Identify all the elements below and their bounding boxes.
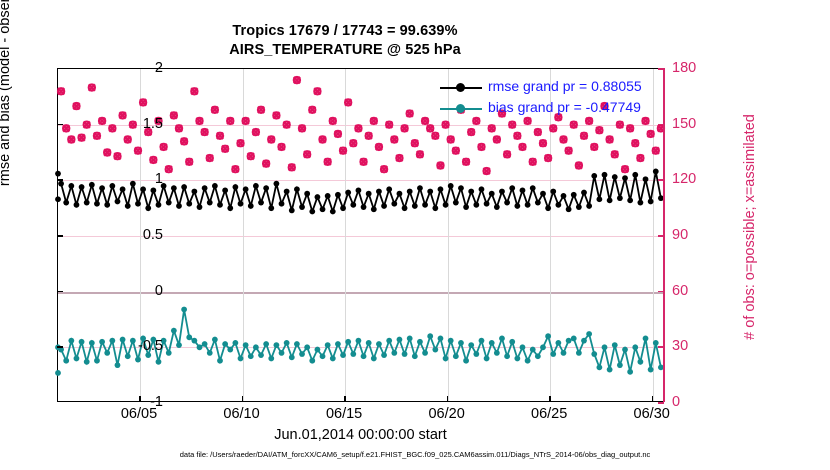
series-point <box>156 359 162 365</box>
series-point <box>284 189 290 195</box>
series-point <box>386 186 392 192</box>
series-point <box>356 187 362 193</box>
series-point <box>504 353 510 359</box>
series-point <box>468 189 474 195</box>
series-point <box>448 183 454 189</box>
x-tick-label: 06/30 <box>634 406 670 422</box>
series-point <box>391 350 397 356</box>
y-tick-mark <box>57 235 63 237</box>
x-tick-mark <box>344 396 346 402</box>
series-point <box>74 202 80 208</box>
series-point <box>361 353 367 359</box>
series-point <box>309 358 315 364</box>
series-point <box>104 350 110 356</box>
series-point <box>530 347 536 353</box>
legend-marker-rmse <box>456 83 465 92</box>
series-point <box>186 201 192 207</box>
series-point <box>166 200 172 206</box>
series-point <box>166 350 172 356</box>
series-point <box>304 191 310 197</box>
y-tick-mark-right <box>658 346 664 348</box>
series-point <box>550 351 556 357</box>
series-point <box>514 356 520 362</box>
series-point <box>566 338 572 344</box>
series-point <box>68 183 74 189</box>
series-point <box>576 350 582 356</box>
series-point <box>366 340 372 346</box>
series-point <box>514 203 520 209</box>
figure-canvas: Tropics 17679 / 17743 = 99.639% AIRS_TEM… <box>0 0 830 470</box>
series-point <box>325 342 331 348</box>
series-point <box>653 340 659 346</box>
series-point <box>335 192 341 198</box>
series-point <box>263 185 269 191</box>
series-point <box>248 203 254 209</box>
series-point <box>279 350 285 356</box>
series-point <box>350 202 356 208</box>
y-tick-label: -0.5 <box>138 338 163 354</box>
series-point <box>268 205 274 211</box>
y-tick-mark-right <box>658 124 664 126</box>
series-point <box>458 185 464 191</box>
series-point <box>417 185 423 191</box>
legend-item-bias: bias grand pr = -0.47749 <box>440 99 670 120</box>
x-tick-mark <box>139 396 141 402</box>
series-point <box>84 200 90 206</box>
series-point <box>448 338 454 344</box>
title-line-1: Tropics 17679 / 17743 = 99.639% <box>0 22 690 41</box>
series-point <box>202 341 208 347</box>
series-point <box>345 339 351 345</box>
series-point <box>120 337 126 343</box>
y-tick-mark-right <box>658 291 664 293</box>
series-point <box>530 185 536 191</box>
x-axis-label: Jun.01,2014 00:00:00 start <box>57 427 664 443</box>
series-point <box>120 186 126 192</box>
series-point <box>427 189 433 195</box>
x-tick-label: 06/10 <box>223 406 259 422</box>
y-tick-label: 1.5 <box>143 116 163 132</box>
series-point <box>289 207 295 213</box>
y-tick-label: 2 <box>155 60 163 76</box>
chart-title: Tropics 17679 / 17743 = 99.639% AIRS_TEM… <box>0 22 690 60</box>
y-tick-mark <box>57 291 63 293</box>
y-tick-mark-right <box>658 68 664 70</box>
series-point <box>89 340 95 346</box>
series-point <box>648 367 654 373</box>
series-point <box>217 358 223 364</box>
series-point <box>55 196 61 202</box>
series-point <box>309 209 315 215</box>
series-point <box>550 189 556 195</box>
series-point <box>596 364 602 370</box>
series-point <box>115 199 121 205</box>
series-point <box>386 338 392 344</box>
series-point <box>545 333 551 339</box>
series-point <box>484 201 490 207</box>
series-point <box>632 344 638 350</box>
series-point <box>345 190 351 196</box>
legend-label-bias: bias grand pr = -0.47749 <box>488 99 641 115</box>
series-point <box>197 344 203 350</box>
x-tick-mark <box>549 396 551 402</box>
series-point <box>197 204 203 210</box>
series-point <box>479 338 485 344</box>
series-point <box>596 196 602 202</box>
series-point <box>391 201 397 207</box>
series-point <box>294 341 300 347</box>
series-point <box>504 200 510 206</box>
series-point <box>268 356 274 362</box>
series-point <box>555 340 561 346</box>
series-point <box>643 336 649 342</box>
series-point <box>622 347 628 353</box>
series-point <box>55 370 61 376</box>
series-point <box>607 367 613 373</box>
series-point <box>591 173 597 179</box>
series-point <box>135 201 141 207</box>
series-point <box>191 189 197 195</box>
series-point <box>156 202 162 208</box>
series-point <box>376 341 382 347</box>
series-point <box>125 203 131 209</box>
series-point <box>140 186 146 192</box>
series-point <box>191 338 197 344</box>
x-tick-mark <box>447 396 449 402</box>
series-point <box>315 194 321 200</box>
series-point <box>494 204 500 210</box>
series-point <box>222 187 228 193</box>
series-point <box>238 201 244 207</box>
series-point <box>581 190 587 196</box>
series-point <box>617 362 623 368</box>
series-point <box>484 356 490 362</box>
series-point <box>612 174 618 180</box>
series-point <box>243 342 249 348</box>
series-point <box>171 328 177 334</box>
y-tick-label-right: 90 <box>672 227 688 243</box>
series-point <box>376 189 382 195</box>
series-point <box>299 204 305 210</box>
series-point <box>361 204 367 210</box>
series-point <box>320 353 326 359</box>
series-point <box>109 183 115 189</box>
series-point <box>350 351 356 357</box>
series-point <box>289 354 295 360</box>
y-tick-label: 0 <box>155 283 163 299</box>
series-point <box>253 183 259 189</box>
series-point <box>571 192 577 198</box>
y-tick-mark-right <box>658 402 664 404</box>
series-point <box>212 183 218 189</box>
x-tick-mark <box>652 396 654 402</box>
series-point <box>371 356 377 362</box>
y-tick-label-right: 180 <box>672 60 696 76</box>
legend-marker-bias <box>456 104 465 113</box>
y-tick-mark-right <box>658 179 664 181</box>
series-point <box>643 176 649 182</box>
series-point <box>520 344 526 350</box>
y-tick-mark <box>57 124 63 126</box>
series-point <box>463 204 469 210</box>
series-point <box>397 337 403 343</box>
series-point <box>232 340 238 346</box>
series-point <box>407 189 413 195</box>
series-point <box>315 347 321 353</box>
series-point <box>176 342 182 348</box>
series-point <box>171 185 177 191</box>
title-line-2: AIRS_TEMPERATURE @ 525 hPa <box>0 41 690 60</box>
series-point <box>591 351 597 357</box>
series-point <box>186 334 192 340</box>
series-point <box>632 172 638 178</box>
series-point <box>381 352 387 358</box>
series-point <box>509 339 515 345</box>
series-point <box>422 202 428 208</box>
series-point <box>115 362 121 368</box>
series-point <box>181 184 187 190</box>
y-tick-label-right: 60 <box>672 283 688 299</box>
series-point <box>473 202 479 208</box>
y-tick-label-right: 30 <box>672 338 688 354</box>
series-point <box>479 186 485 192</box>
series-point <box>330 209 336 215</box>
series-point <box>607 197 613 203</box>
series-point <box>58 181 64 187</box>
series-point <box>489 191 495 197</box>
series-point <box>540 344 546 350</box>
series-point <box>402 351 408 357</box>
series-point <box>55 171 61 177</box>
legend-item-rmse: rmse grand pr = 0.88055 <box>440 78 670 99</box>
series-point <box>412 203 418 209</box>
series-point <box>243 186 249 192</box>
series-point <box>253 344 259 350</box>
series-point <box>94 358 100 364</box>
series-point <box>617 195 623 201</box>
series-point <box>443 202 449 208</box>
series-point <box>602 344 608 350</box>
series-point <box>207 200 213 206</box>
series-point <box>99 185 105 191</box>
series-point <box>145 205 151 211</box>
series-point <box>84 359 90 365</box>
series-point <box>453 353 459 359</box>
series-point <box>68 338 74 344</box>
series-point <box>135 357 141 363</box>
series-point <box>248 353 254 359</box>
x-tick-label: 06/15 <box>326 406 362 422</box>
series-point <box>273 342 279 348</box>
series-point <box>232 184 238 190</box>
y-axis-label-right: # of obs: o=possible; x=assimilated <box>742 62 758 392</box>
series-point <box>299 351 305 357</box>
series-point <box>381 203 387 209</box>
series-point <box>325 193 331 199</box>
y-tick-label: 0.5 <box>143 227 163 243</box>
series-point <box>181 307 187 313</box>
series-point <box>612 342 618 348</box>
series-point <box>535 353 541 359</box>
series-point <box>458 340 464 346</box>
y-tick-label: 1 <box>155 171 163 187</box>
x-tick-label: 06/05 <box>121 406 157 422</box>
series-point <box>258 352 264 358</box>
x-tick-label: 06/25 <box>531 406 567 422</box>
series-point <box>586 331 592 337</box>
series-point <box>432 205 438 211</box>
series-point <box>627 369 633 375</box>
series-point <box>397 191 403 197</box>
series-point <box>63 200 69 206</box>
series-point <box>125 353 131 359</box>
series-point <box>499 336 505 342</box>
y-tick-mark <box>57 346 63 348</box>
series-point <box>468 342 474 348</box>
series-point <box>417 339 423 345</box>
series-point <box>340 205 346 211</box>
series-point <box>525 202 531 208</box>
series-point <box>284 340 290 346</box>
series-point <box>89 182 95 188</box>
y-tick-label-right: 0 <box>672 394 680 410</box>
series-point <box>463 358 469 364</box>
series-point <box>320 206 326 212</box>
series-point <box>176 203 182 209</box>
x-tick-label: 06/20 <box>428 406 464 422</box>
series-point <box>371 206 377 212</box>
series-point <box>340 352 346 358</box>
series-point <box>279 201 285 207</box>
series-point <box>412 353 418 359</box>
data-file-footer: data file: /Users/raeder/DAI/ATM_forcXX/… <box>0 450 830 459</box>
y-tick-label-right: 150 <box>672 116 696 132</box>
series-point <box>653 169 659 175</box>
series-point <box>540 191 546 197</box>
series-point <box>648 199 654 205</box>
series-point <box>576 204 582 210</box>
series-point <box>227 347 233 353</box>
series-point <box>294 186 300 192</box>
series-point <box>473 351 479 357</box>
series-point <box>130 338 136 344</box>
series-point <box>571 336 577 342</box>
series-point <box>79 184 85 190</box>
series-point <box>535 200 541 206</box>
series-point <box>520 187 526 193</box>
x-tick-mark <box>242 396 244 402</box>
series-rmse <box>55 169 664 215</box>
series-point <box>304 344 310 350</box>
series-point <box>489 340 495 346</box>
series-point <box>586 203 592 209</box>
series-point <box>356 338 362 344</box>
series-point <box>627 197 633 203</box>
series-point <box>545 205 551 211</box>
series-point <box>432 347 438 353</box>
series-point <box>602 172 608 178</box>
series-point <box>561 350 567 356</box>
series-point <box>79 339 85 345</box>
series-point <box>258 200 264 206</box>
series-point <box>438 186 444 192</box>
series-point <box>637 200 643 206</box>
series-point <box>422 350 428 356</box>
series-point <box>263 341 269 347</box>
series-point <box>561 193 567 199</box>
series-point <box>99 339 105 345</box>
series-point <box>202 185 208 191</box>
series-point <box>525 358 531 364</box>
series-point <box>330 356 336 362</box>
series-point <box>637 359 643 365</box>
series-point <box>207 350 213 356</box>
series-point <box>581 338 587 344</box>
y-tick-mark <box>57 179 63 181</box>
series-point <box>222 341 228 347</box>
legend-label-rmse: rmse grand pr = 0.88055 <box>488 78 642 94</box>
series-point <box>438 336 444 342</box>
y-tick-label-right: 120 <box>672 171 696 187</box>
series-point <box>130 181 136 187</box>
series-point <box>150 187 156 193</box>
y-tick-mark-right <box>658 235 664 237</box>
series-point <box>622 175 628 181</box>
series-point <box>443 356 449 362</box>
series-point <box>63 358 69 364</box>
series-point <box>217 202 223 208</box>
series-point <box>273 181 279 187</box>
series-point <box>427 333 433 339</box>
series-point <box>94 201 100 207</box>
series-point <box>453 200 459 206</box>
series-point <box>407 336 413 342</box>
y-axis-label-left: rmse and bias (model - observation) <box>0 0 13 235</box>
series-point <box>555 202 561 208</box>
series-point <box>238 356 244 362</box>
series-point <box>499 189 505 195</box>
legend: rmse grand pr = 0.88055 bias grand pr = … <box>440 78 670 120</box>
series-point <box>335 341 341 347</box>
series-point <box>509 185 515 191</box>
series-point <box>494 350 500 356</box>
series-point <box>104 202 110 208</box>
series-point <box>366 191 372 197</box>
series-point <box>212 337 218 343</box>
series-point <box>227 205 233 211</box>
series-point <box>74 356 80 362</box>
series-point <box>566 206 572 212</box>
series-point <box>109 338 115 344</box>
series-point <box>402 205 408 211</box>
